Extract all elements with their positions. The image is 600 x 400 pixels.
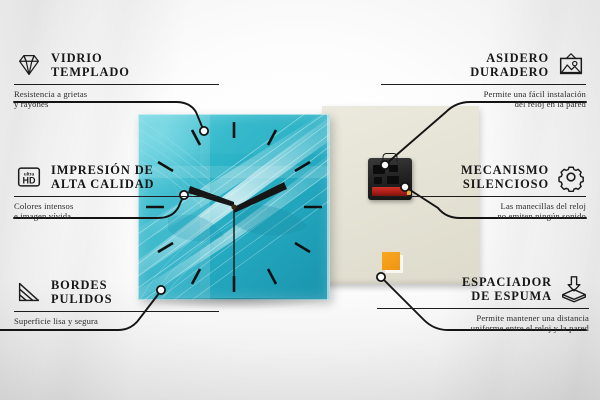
feature-title: VIDRIO TEMPLADO: [51, 51, 130, 79]
feature-title: IMPRESIÓN DE ALTA CALIDAD: [51, 163, 154, 191]
feature-subtitle: Resistencia a grietas y rayones: [14, 89, 219, 110]
feature-title: ASIDERO DURADERO: [470, 51, 549, 79]
divider: [381, 84, 586, 85]
feature-espaciador-de-espuma: ESPACIADOR DE ESPUMA Permite mantener un…: [377, 274, 589, 334]
divider: [377, 308, 589, 309]
divider: [381, 196, 586, 197]
ultra-hd-icon: ultra HD: [14, 162, 44, 192]
infographic-canvas: VIDRIO TEMPLADO Resistencia a grietas y …: [0, 0, 600, 400]
feature-vidrio-templado: VIDRIO TEMPLADO Resistencia a grietas y …: [14, 50, 219, 110]
divider: [14, 84, 219, 85]
feature-title: ESPACIADOR DE ESPUMA: [462, 275, 552, 303]
feature-subtitle: Colores intensos e imagen vívida: [14, 201, 219, 222]
movement-hanger: [383, 153, 398, 162]
diamond-icon: [14, 50, 44, 80]
glass-edge: [327, 114, 330, 300]
feature-subtitle: Permite una fácil instalación del reloj …: [381, 89, 586, 110]
feature-mecanismo-silencioso: MECANISMO SILENCIOSO Las manecillas del …: [381, 162, 586, 222]
feature-subtitle: Las manecillas del reloj no emiten ningú…: [381, 201, 586, 222]
feature-impresion-alta-calidad: ultra HD IMPRESIÓN DE ALTA CALIDAD Color…: [14, 162, 219, 222]
divider: [14, 196, 219, 197]
gear-icon: [556, 162, 586, 192]
hd-label: HD: [23, 176, 36, 186]
feature-asidero-duradero: ASIDERO DURADERO Permite una fácil insta…: [381, 50, 586, 110]
feature-subtitle: Permite mantener una distancia uniforme …: [377, 313, 589, 334]
feature-subtitle: Superficie lisa y segura: [14, 316, 219, 327]
foam-spacer-arrow-icon: [559, 274, 589, 304]
polished-edge-icon: [14, 277, 44, 307]
feature-title: MECANISMO SILENCIOSO: [461, 163, 549, 191]
feature-title: BORDES PULIDOS: [51, 278, 112, 306]
foam-spacer: [382, 252, 400, 270]
feature-bordes-pulidos: BORDES PULIDOS Superficie lisa y segura: [14, 277, 219, 326]
picture-frame-hanger-icon: [556, 50, 586, 80]
divider: [14, 311, 219, 312]
